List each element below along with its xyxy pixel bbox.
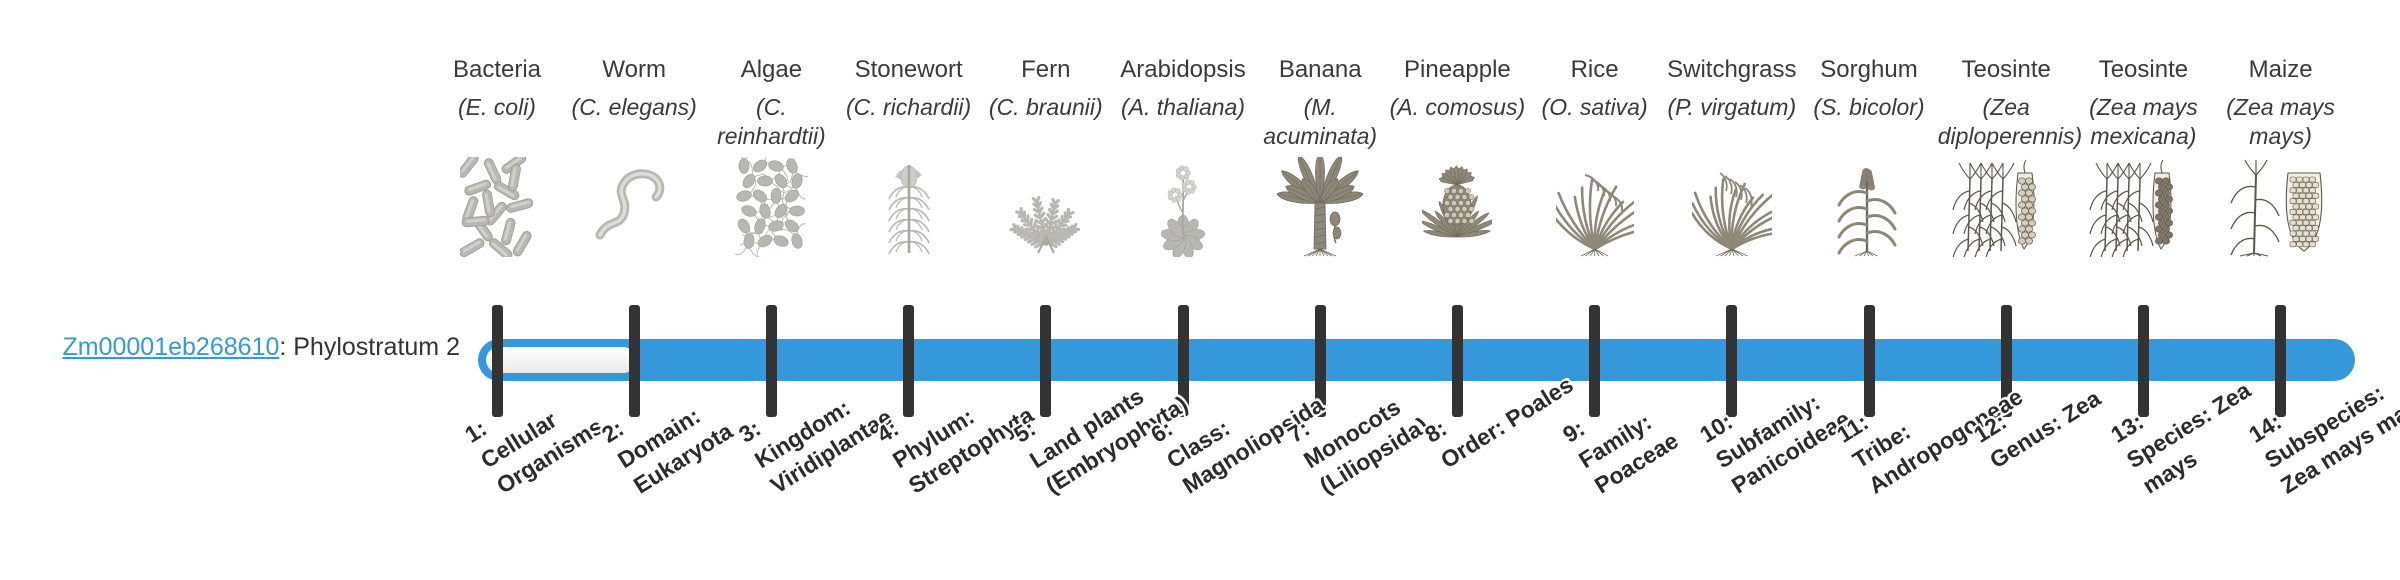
species-common-name: Sorghum — [1801, 55, 1938, 87]
teosinte-diplo-icon — [1938, 157, 2075, 257]
species-column-pineapple-7: Pineapple(A. comosus) — [1389, 55, 1526, 257]
phylostratum-timeline: Zm00001eb268610: Phylostratum 2 Bacteria… — [0, 0, 2400, 580]
gene-id-link[interactable]: Zm00001eb268610 — [63, 333, 280, 361]
species-common-name: Rice — [1526, 55, 1663, 87]
species-column-algae-2: Algae(C. reinhardtii) — [703, 55, 840, 257]
species-column-switchgrass-9: Switchgrass(P. virgatum) — [1663, 55, 1800, 257]
gene-phylostratum-label: Zm00001eb268610: Phylostratum 2 — [40, 333, 460, 362]
maize-icon — [2212, 157, 2349, 257]
species-common-name: Fern — [977, 55, 1114, 87]
species-common-name: Arabidopsis — [1115, 55, 1252, 87]
species-column-teosinte-12: Teosinte(Zea mays mexicana) — [2075, 55, 2212, 257]
species-column-teosinte-11: Teosinte(Zea diploperennis) — [1938, 55, 2075, 257]
stonewort-icon — [840, 157, 977, 257]
species-scientific-name: (A. thaliana) — [1115, 93, 1252, 155]
species-scientific-name: (C. braunii) — [977, 93, 1114, 155]
arabidopsis-icon — [1115, 157, 1252, 257]
species-common-name: Algae — [703, 55, 840, 87]
species-scientific-name: (Zea mays mexicana) — [2075, 93, 2212, 155]
species-column-fern-4: Fern(C. braunii) — [977, 55, 1114, 257]
species-column-maize-13: Maize(Zea mays mays) — [2212, 55, 2349, 257]
species-common-name: Switchgrass — [1663, 55, 1800, 87]
species-scientific-name: (Zea diploperennis) — [1938, 93, 2075, 155]
species-scientific-name: (M. acuminata) — [1252, 93, 1389, 155]
species-column-worm-1: Worm(C. elegans) — [566, 55, 703, 257]
sorghum-icon — [1801, 157, 1938, 257]
species-column-stonewort-3: Stonewort(C. richardii) — [840, 55, 977, 257]
worm-icon — [566, 157, 703, 257]
species-common-name: Maize — [2212, 55, 2349, 87]
species-scientific-name: (O. sativa) — [1526, 93, 1663, 155]
algae-icon — [703, 157, 840, 257]
species-common-name: Banana — [1252, 55, 1389, 87]
species-column-sorghum-10: Sorghum(S. bicolor) — [1801, 55, 1938, 257]
species-column-rice-8: Rice(O. sativa) — [1526, 55, 1663, 257]
species-common-name: Teosinte — [1938, 55, 2075, 87]
species-scientific-name: (C. reinhardtii) — [703, 93, 840, 155]
species-common-name: Bacteria — [429, 55, 566, 87]
species-scientific-name: (P. virgatum) — [1663, 93, 1800, 155]
species-common-name: Teosinte — [2075, 55, 2212, 87]
species-scientific-name: (A. comosus) — [1389, 93, 1526, 155]
species-scientific-name: (Zea mays mays) — [2212, 93, 2349, 155]
pineapple-icon — [1389, 157, 1526, 257]
species-scientific-name: (E. coli) — [429, 93, 566, 155]
species-scientific-name: (C. richardii) — [840, 93, 977, 155]
rice-icon — [1526, 157, 1663, 257]
fern-icon — [977, 157, 1114, 257]
species-column-banana-6: Banana(M. acuminata) — [1252, 55, 1389, 257]
species-common-name: Pineapple — [1389, 55, 1526, 87]
banana-icon — [1252, 157, 1389, 257]
species-scientific-name: (S. bicolor) — [1801, 93, 1938, 155]
bacteria-icon — [429, 157, 566, 257]
teosinte-mexicana-icon — [2075, 157, 2212, 257]
species-scientific-name: (C. elegans) — [566, 93, 703, 155]
species-column-arabidopsis-5: Arabidopsis(A. thaliana) — [1115, 55, 1252, 257]
species-column-bacteria-0: Bacteria(E. coli) — [429, 55, 566, 257]
species-common-name: Stonewort — [840, 55, 977, 87]
switchgrass-icon — [1663, 157, 1800, 257]
phylostratum-text: : Phylostratum 2 — [279, 333, 460, 361]
species-common-name: Worm — [566, 55, 703, 87]
